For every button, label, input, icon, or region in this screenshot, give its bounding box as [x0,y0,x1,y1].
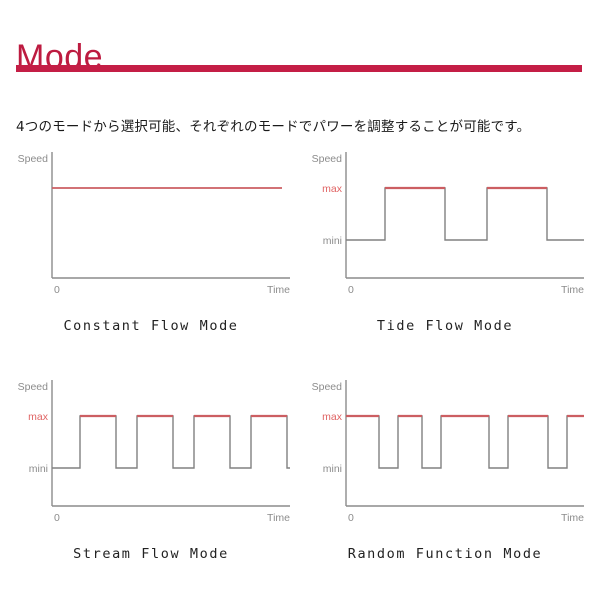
chart-caption-random-function: Random Function Mode [300,546,590,562]
origin-label: 0 [54,512,60,524]
y-axis-title: Speed [18,153,49,165]
origin-label: 0 [348,512,354,524]
chart-constant-flow: Speed Speed 0 Time [6,140,296,320]
chart-card-tide-flow: Speed max mini 0 Time Tide Flow Mode [300,140,590,365]
title-divider-rule [16,65,582,72]
x-axis-title: Time [267,512,290,524]
chart-card-constant-flow: Speed Speed 0 Time Constant Flow Mode [6,140,296,365]
y-axis-title: Speed [312,153,343,165]
chart-tide-flow: Speed max mini 0 Time [300,140,590,320]
y-axis-title: Speed [312,381,343,393]
x-axis-title: Time [561,284,584,296]
origin-label: 0 [348,284,354,296]
waveform-random-function [346,416,584,468]
y-tick-max-label: max [322,411,343,423]
y-tick-mini-label: mini [29,463,48,475]
y-tick-max-label: max [322,183,343,195]
chart-card-stream-flow: Speed max mini 0 Time Stream Flow Mode [6,368,296,593]
y-tick-mini-label: mini [323,235,342,247]
page-title: Mode [16,35,103,79]
chart-caption-tide-flow: Tide Flow Mode [300,318,590,334]
chart-caption-stream-flow: Stream Flow Mode [6,546,296,562]
page-subtitle: 4つのモードから選択可能、それぞれのモードでパワーを調整することが可能です。 [16,117,596,137]
chart-card-random-function: Speed max mini 0 Time Random Function Mo… [300,368,590,593]
y-tick-max-label: max [28,411,49,423]
chart-random-function: Speed max mini 0 Time [300,368,590,548]
y-axis-title: Speed [18,381,49,393]
y-tick-mini-label: mini [323,463,342,475]
x-axis-title: Time [561,512,584,524]
x-axis-title: Time [267,284,290,296]
origin-label: 0 [54,284,60,296]
waveform-tide-flow [346,188,584,240]
mode-page: Mode 4つのモードから選択可能、それぞれのモードでパワーを調整することが可能… [0,0,600,600]
chart-stream-flow: Speed max mini 0 Time [6,368,296,548]
mode-chart-grid: Speed Speed 0 Time Constant Flow Mode Sp… [0,140,600,590]
chart-caption-constant-flow: Constant Flow Mode [6,318,296,334]
waveform-stream-flow [52,416,290,468]
